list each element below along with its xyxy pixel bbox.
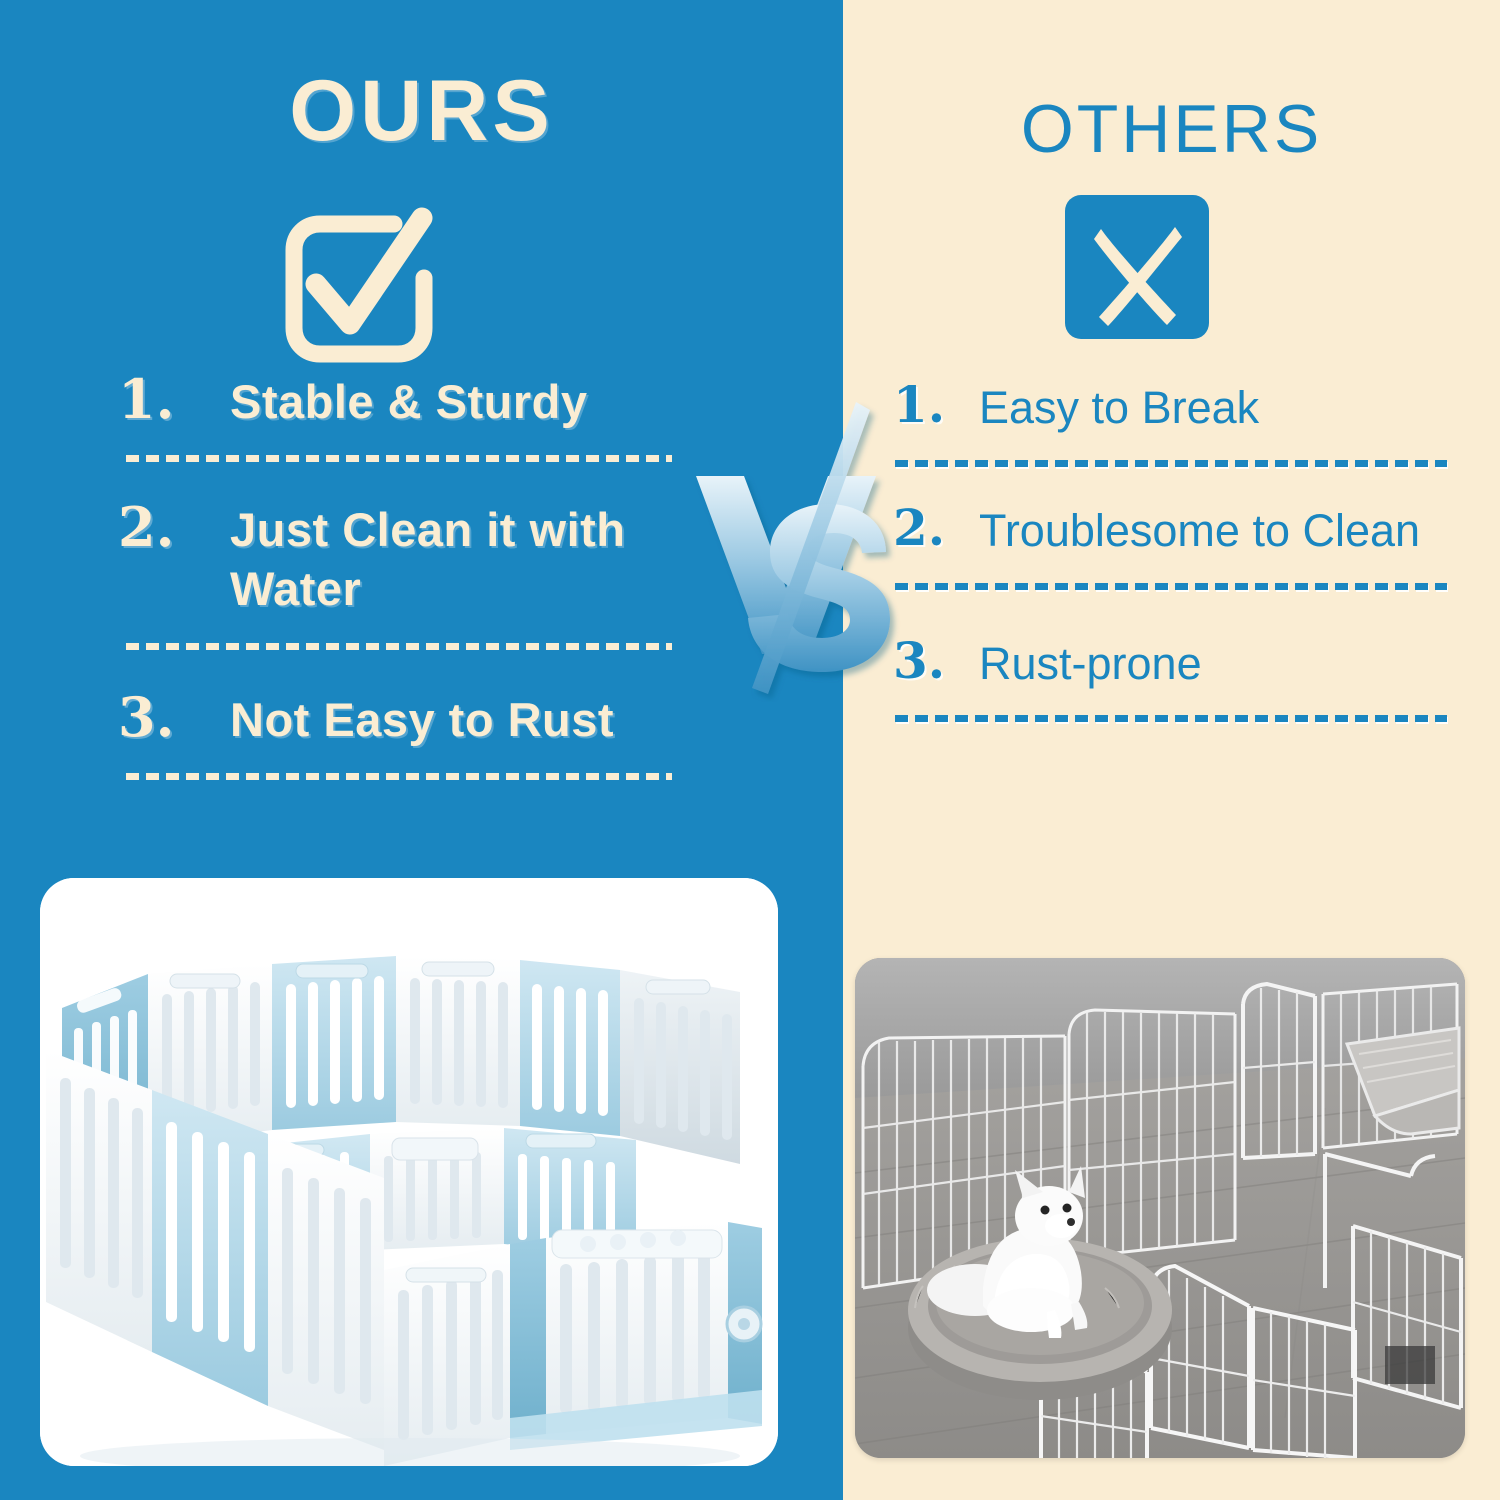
divider-dashed [895,715,1447,722]
list-item-number: 2. [118,500,230,554]
list-item-label: Easy to Break [979,380,1463,436]
list-item-number: 1. [118,372,230,426]
list-item: 1. Easy to Break [893,380,1463,436]
list-item-number: 2. [893,503,979,553]
list-item-label: Just Clean it with Water [230,500,678,618]
divider-dashed [126,643,672,650]
list-item-number: 3. [118,690,230,744]
divider-dashed [126,773,672,780]
list-item-number: 3. [893,636,979,686]
list-item-label: Not Easy to Rust [230,690,678,749]
others-feature-list: 1. Easy to Break 2. Troublesome to Clean… [893,380,1463,722]
others-title: OTHERS [843,90,1500,168]
list-item: 2. Just Clean it with Water [118,500,678,618]
divider-dashed [126,455,672,462]
list-item: 3. Not Easy to Rust [118,690,678,749]
ours-title: OURS [0,62,843,161]
list-item: 1. Stable & Sturdy [118,372,678,431]
divider-dashed [895,583,1447,590]
list-item: 2. Troublesome to Clean [893,503,1463,559]
others-product-photo [855,958,1465,1458]
list-item-label: Stable & Sturdy [230,372,678,431]
comparison-infographic: OURS OTHERS 1. Stable & Sturdy 2. Just C… [0,0,1500,1500]
list-item-label: Rust-prone [979,636,1463,692]
ours-product-photo [40,878,778,1466]
list-item-number: 1. [893,380,979,430]
cross-x-icon [1063,193,1211,341]
list-item-label: Troublesome to Clean [979,503,1463,559]
checkbox-check-icon [272,200,442,375]
ours-feature-list: 1. Stable & Sturdy 2. Just Clean it with… [118,372,678,780]
divider-dashed [895,460,1447,467]
list-item: 3. Rust-prone [893,636,1463,692]
